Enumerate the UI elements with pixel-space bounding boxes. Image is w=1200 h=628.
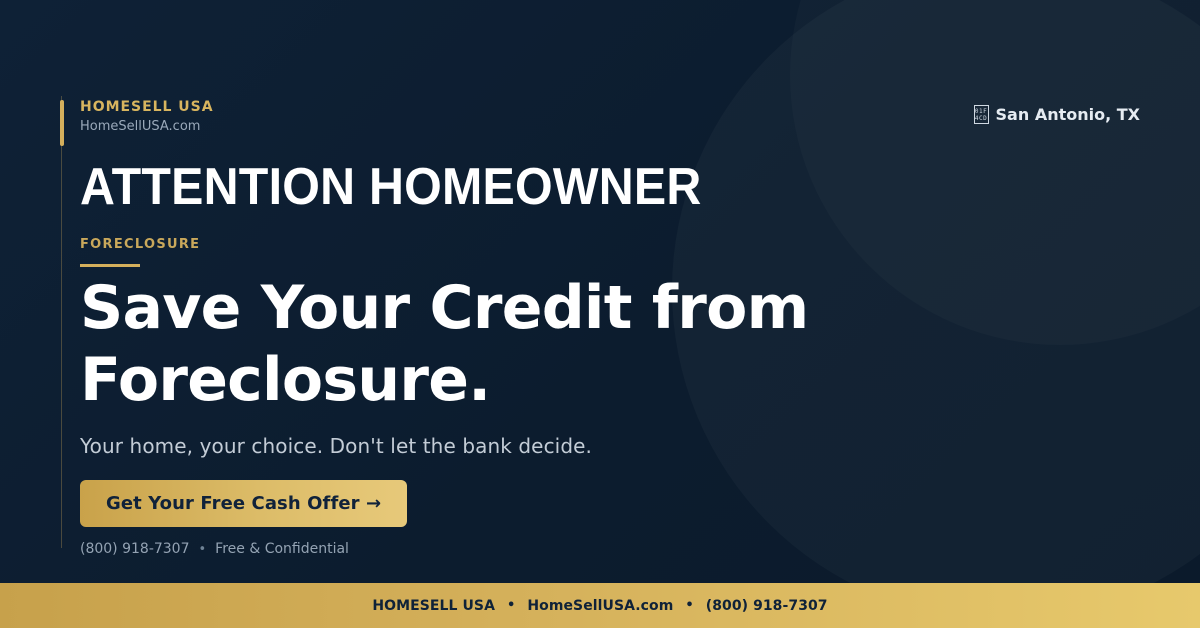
brand-name: HOMESELL USA xyxy=(80,100,214,115)
get-free-cash-offer-button[interactable]: Get Your Free Cash Offer → xyxy=(80,480,407,527)
footer-website[interactable]: HomeSellUSA.com xyxy=(527,598,673,614)
brand-website[interactable]: HomeSellUSA.com xyxy=(80,119,214,135)
ad-banner: HOMESELL USA HomeSellUSA.com 01F 4CD San… xyxy=(0,0,1200,628)
eyebrow-label: FORECLOSURE xyxy=(80,237,200,252)
location-badge: 01F 4CD San Antonio, TX xyxy=(974,105,1140,124)
contact-note: Free & Confidential xyxy=(215,541,349,557)
left-accent-bar xyxy=(60,100,64,146)
eyebrow-group: FORECLOSURE xyxy=(80,237,200,267)
contact-line: (800) 918-7307 • Free & Confidential xyxy=(80,541,349,557)
ad-content: HOMESELL USA HomeSellUSA.com 01F 4CD San… xyxy=(80,0,1140,583)
footer-brand: HOMESELL USA xyxy=(372,598,495,614)
brand-block: HOMESELL USA HomeSellUSA.com xyxy=(80,100,214,135)
tofu-codepoint-top: 01F xyxy=(975,108,987,115)
subheadline: Your home, your choice. Don't let the ba… xyxy=(80,434,592,458)
left-accent-rail xyxy=(61,96,62,548)
footer-separator-2: • xyxy=(685,598,693,613)
footer-phone[interactable]: (800) 918-7307 xyxy=(706,598,828,614)
contact-phone[interactable]: (800) 918-7307 xyxy=(80,541,190,557)
tofu-codepoint-bottom: 4CD xyxy=(975,115,987,122)
map-pin-icon: 01F 4CD xyxy=(974,105,989,124)
brand-row: HOMESELL USA HomeSellUSA.com 01F 4CD San… xyxy=(80,100,1140,135)
page-title: Save Your Credit from Foreclosure. xyxy=(80,272,980,416)
contact-separator: • xyxy=(199,542,207,557)
eyebrow-underline xyxy=(80,264,140,267)
footer-separator-1: • xyxy=(507,598,515,613)
footer-bar: HOMESELL USA • HomeSellUSA.com • (800) 9… xyxy=(0,583,1200,628)
location-label: San Antonio, TX xyxy=(996,105,1140,124)
attention-heading: ATTENTION HOMEOWNER xyxy=(80,160,702,215)
